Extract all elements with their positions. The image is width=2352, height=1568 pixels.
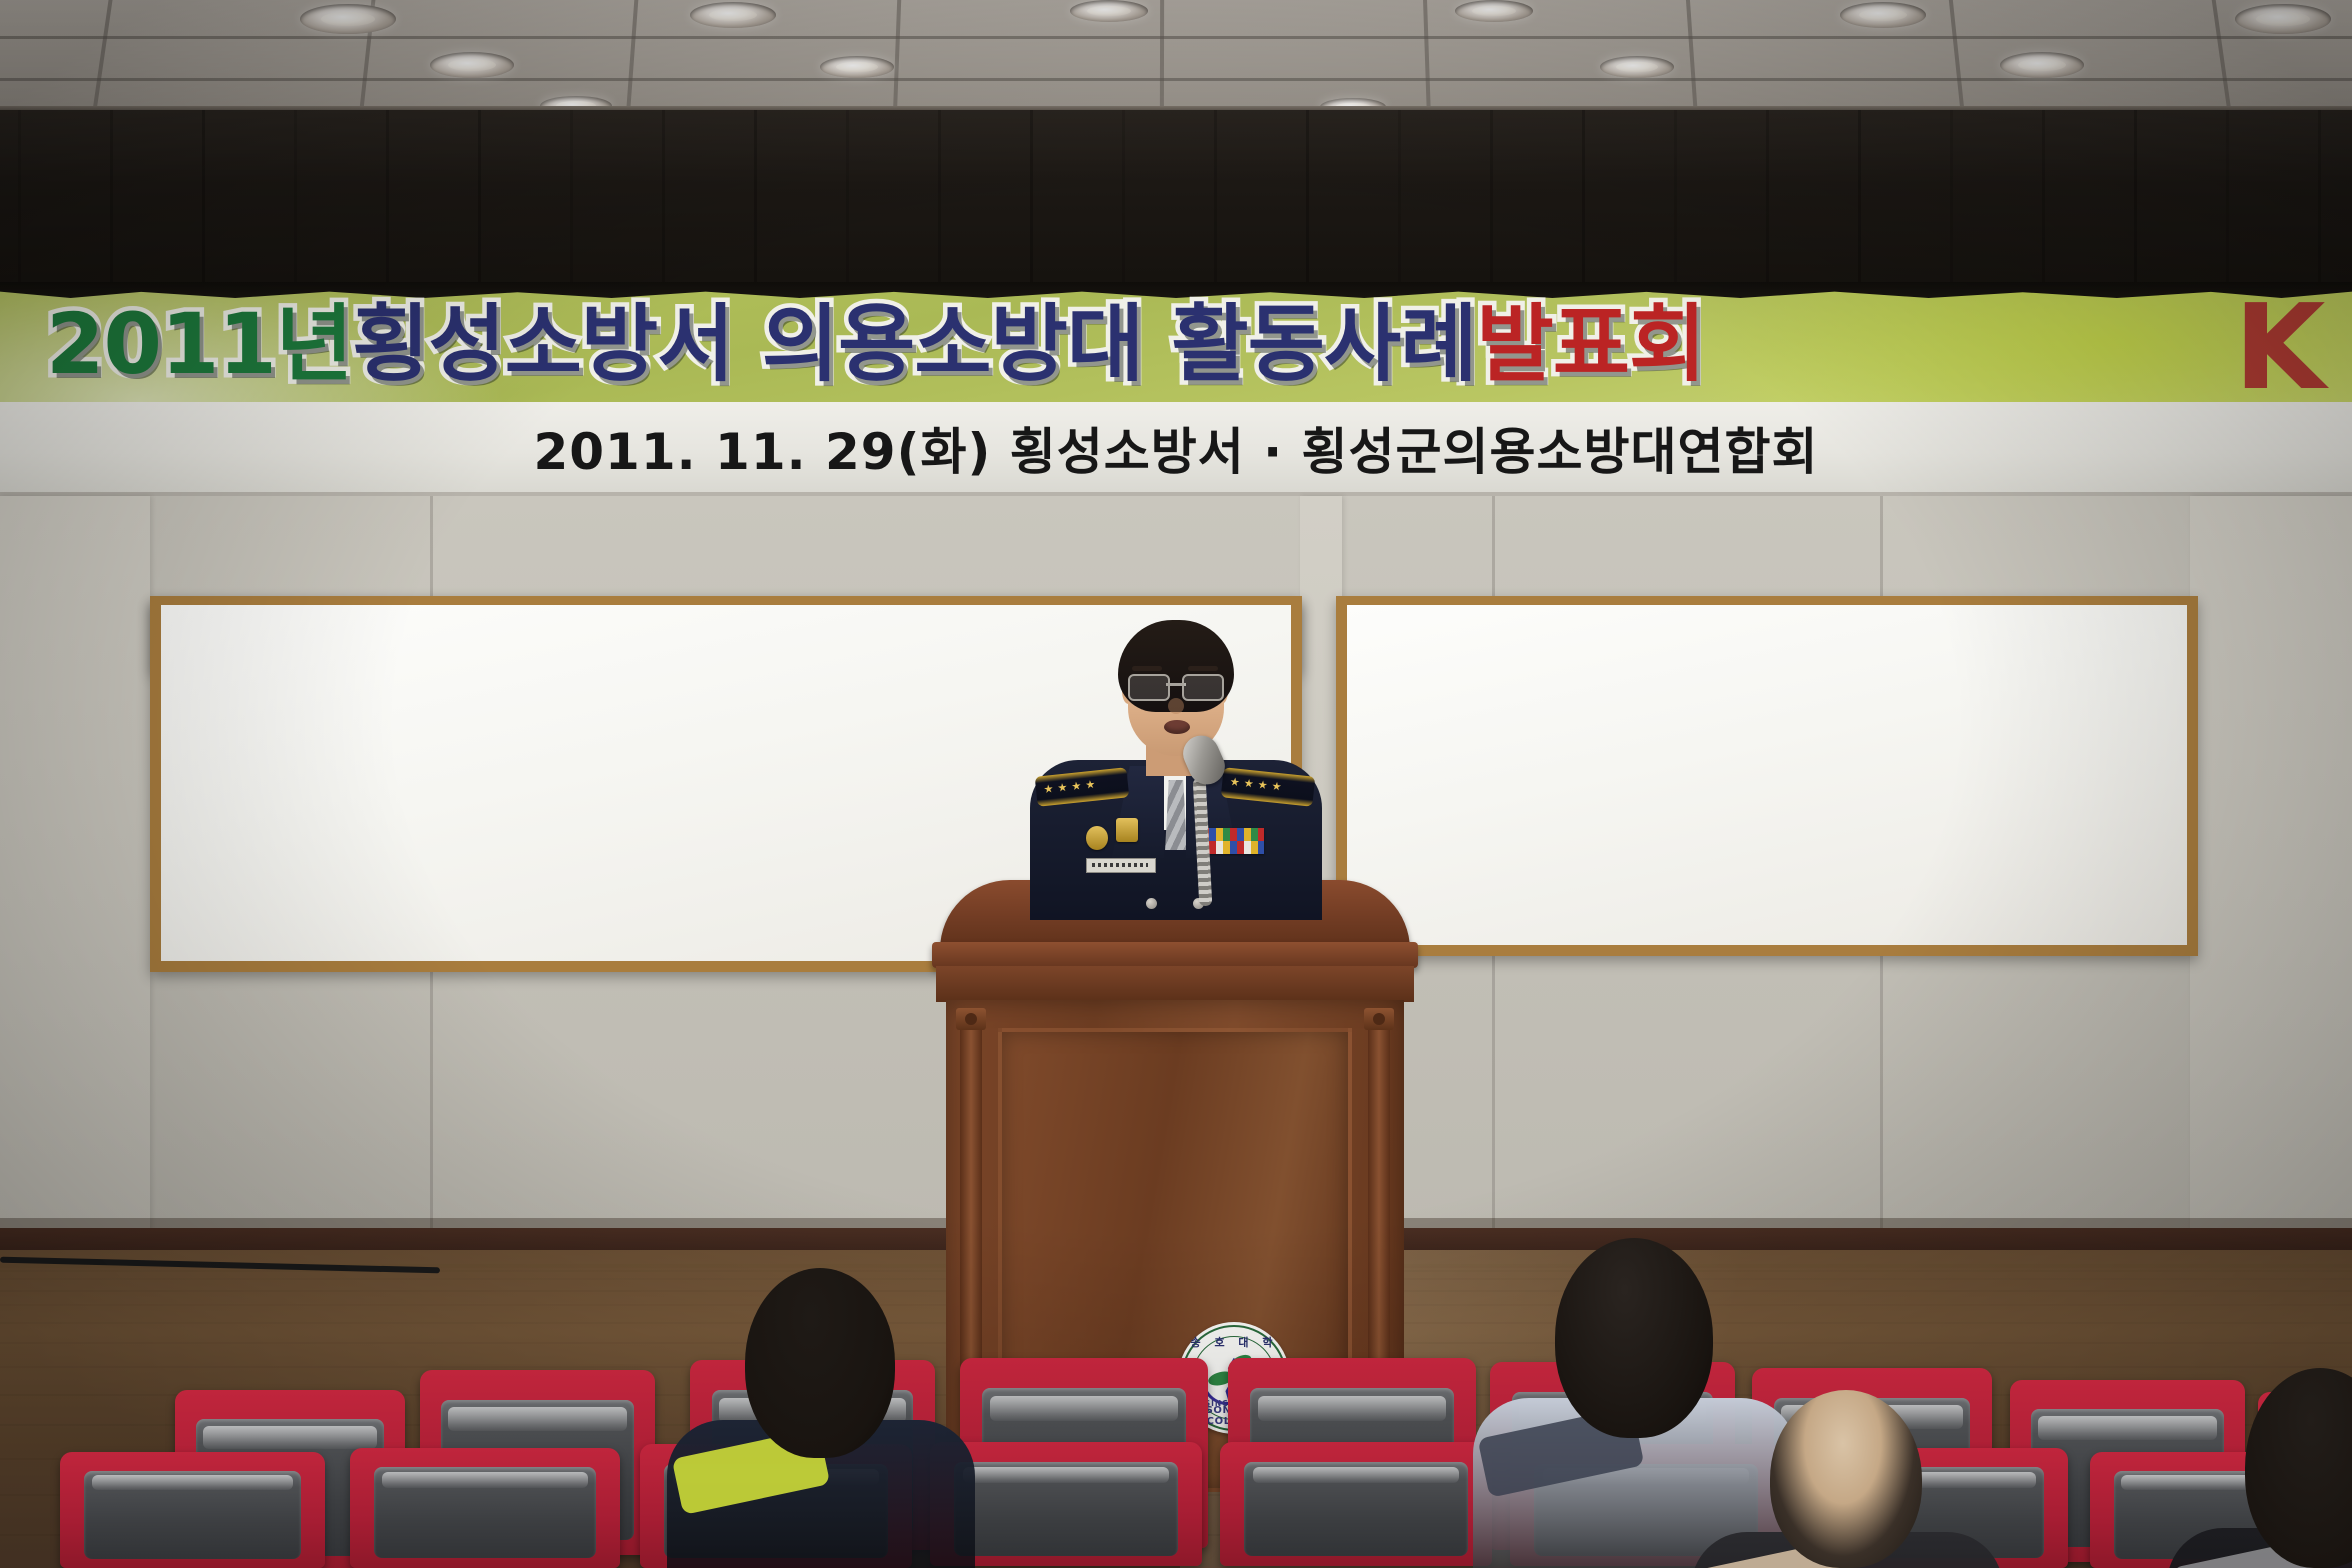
chair-highlight [448, 1407, 627, 1431]
curtain-pleat-6 [570, 110, 573, 295]
speaker-eyebrow-right [1188, 666, 1218, 671]
speaker-eyebrow-left [1132, 666, 1162, 671]
curtain-pleat-1 [110, 110, 113, 295]
head-hair [745, 1268, 895, 1458]
event-banner-title: 2011년 횡성소방서 의용소방대 활동사례 발표회 [46, 292, 2106, 396]
chair-highlight [382, 1472, 587, 1488]
speaker-ribbon-bar [1202, 828, 1264, 854]
speaker-person [1020, 620, 1330, 920]
ceiling-grid-line-v-3 [893, 0, 901, 118]
audience-person-front-left [745, 1268, 895, 1458]
ceiling-grid-line-h-0 [0, 36, 2352, 39]
ceiling-grid-line-h-1 [0, 78, 2352, 81]
chair-highlight [963, 1467, 1170, 1483]
audience-chair-front-0[interactable] [60, 1452, 325, 1568]
banner-title-main: 횡성소방서 의용소방대 활동사례 [352, 302, 1476, 386]
ceiling-grid-line-v-5 [1423, 0, 1431, 118]
audience-person-balding [1770, 1390, 1922, 1568]
ceiling-downlight-8 [1600, 56, 1674, 78]
curtain-pleat-0 [18, 110, 21, 295]
podium-cap-right [1364, 1008, 1394, 1030]
eyeglass-lens-right [1182, 674, 1224, 701]
curtain-pleat-13 [1214, 110, 1217, 295]
wall-pilaster-left [0, 496, 150, 1236]
curtain-pleat-7 [662, 110, 665, 295]
ceiling-grid-line-v-6 [1686, 0, 1698, 118]
speaker-badge-emblem-icon [1116, 818, 1138, 842]
downlight-bulb [448, 59, 495, 71]
speaker-eyeglasses-icon [1126, 674, 1226, 697]
downlight-bulb [1472, 6, 1516, 17]
downlight-bulb [1859, 9, 1907, 21]
ceiling-downlight-7 [820, 56, 894, 78]
curtain-pleat-5 [478, 110, 481, 295]
speaker-nose [1168, 698, 1184, 714]
ceiling-downlight-9 [2000, 52, 2084, 78]
ceiling [0, 0, 2352, 118]
chair-highlight [92, 1475, 293, 1490]
curtain-pleat-2 [202, 110, 205, 295]
ceiling-grid-line-v-7 [1949, 0, 1965, 118]
banner-title-accent: 발표회 [1477, 302, 1706, 386]
audience-chair-front-1[interactable] [350, 1448, 620, 1568]
chair-highlight [203, 1426, 378, 1449]
head-hair [1770, 1390, 1922, 1568]
audience-chair-front-4[interactable] [1220, 1442, 1492, 1566]
curtain-pleat-24 [2226, 110, 2229, 295]
curtain-pleat-23 [2134, 110, 2137, 295]
chair-highlight [1253, 1467, 1460, 1483]
curtain-pleat-25 [2318, 110, 2321, 295]
head-hair [2245, 1368, 2352, 1568]
downlight-bulb [2018, 59, 2065, 71]
whiteboard-right-surface [1347, 605, 2187, 945]
curtain-pleat-10 [938, 110, 941, 295]
rank-stars-right [1230, 777, 1282, 791]
downlight-bulb [1616, 62, 1657, 73]
ceiling-downlight-0 [300, 4, 396, 34]
downlight-bulb [321, 12, 375, 26]
rank-stars-left [1044, 780, 1096, 794]
curtain-pleat-16 [1490, 110, 1493, 295]
head-hair [1555, 1238, 1713, 1438]
stage-curtain [0, 110, 2352, 295]
sponsor-logo-mark: K [2234, 288, 2325, 406]
ceiling-downlight-3 [1455, 0, 1533, 22]
curtain-pleat-3 [294, 110, 297, 295]
curtain-pleat-4 [386, 110, 389, 295]
photo-scene: 2011년 횡성소방서 의용소방대 활동사례 발표회 K 강원소 KANGWON… [0, 0, 2352, 1568]
curtain-pleat-15 [1398, 110, 1401, 295]
ceiling-downlight-6 [430, 52, 514, 78]
downlight-bulb [709, 9, 757, 21]
ceiling-grid-line-v-4 [1160, 0, 1164, 118]
chair-highlight [990, 1396, 1178, 1421]
downlight-bulb [1087, 6, 1131, 17]
ceiling-grid-line-v-0 [91, 0, 112, 118]
ceiling-grid-line-v-2 [626, 0, 639, 118]
downlight-bulb [836, 62, 877, 73]
curtain-pleat-22 [2042, 110, 2045, 295]
ceiling-downlight-2 [1070, 0, 1148, 22]
speaker-button-left-icon [1146, 898, 1157, 909]
podium-lower-rail [936, 966, 1414, 1002]
eyeglass-lens-left [1128, 674, 1170, 701]
speaker-medal-icon [1086, 826, 1108, 850]
wall-pilaster-right [2190, 496, 2352, 1236]
curtain-pleat-20 [1858, 110, 1861, 295]
speaker-nameplate [1086, 858, 1156, 873]
chair-highlight [2038, 1416, 2217, 1440]
audience-person-far-right [2245, 1368, 2352, 1568]
downlight-bulb [2256, 12, 2310, 26]
ceiling-downlight-5 [2235, 4, 2331, 34]
podium-cap-left [956, 1008, 986, 1030]
curtain-pleat-8 [754, 110, 757, 295]
banner-subtitle-text: 2011. 11. 29(화) 횡성소방서 · 횡성군의용소방대연합회 [533, 412, 1818, 484]
curtain-pleat-12 [1122, 110, 1125, 295]
chair-highlight [1258, 1396, 1446, 1421]
curtain-pleat-14 [1306, 110, 1309, 295]
banner-subtitle: 2011. 11. 29(화) 횡성소방서 · 횡성군의용소방대연합회 [0, 402, 2352, 494]
audience-person-front-right [1555, 1238, 1713, 1438]
emblem-korean-name: 송 호 대 학 [1178, 1334, 1290, 1350]
speaker-mouth [1164, 720, 1190, 734]
curtain-pleat-11 [1030, 110, 1033, 295]
banner-title-year: 2011년 [46, 302, 352, 386]
podium-upper-rail [932, 942, 1418, 968]
whiteboard-right [1336, 596, 2198, 956]
curtain-pleat-19 [1766, 110, 1769, 295]
curtain-pleat-18 [1674, 110, 1677, 295]
ceiling-grid-line-v-8 [2212, 0, 2233, 118]
curtain-pleat-17 [1582, 110, 1585, 295]
curtain-pleat-9 [846, 110, 849, 295]
curtain-pleat-21 [1950, 110, 1953, 295]
ceiling-downlight-4 [1840, 2, 1926, 28]
ceiling-downlight-1 [690, 2, 776, 28]
